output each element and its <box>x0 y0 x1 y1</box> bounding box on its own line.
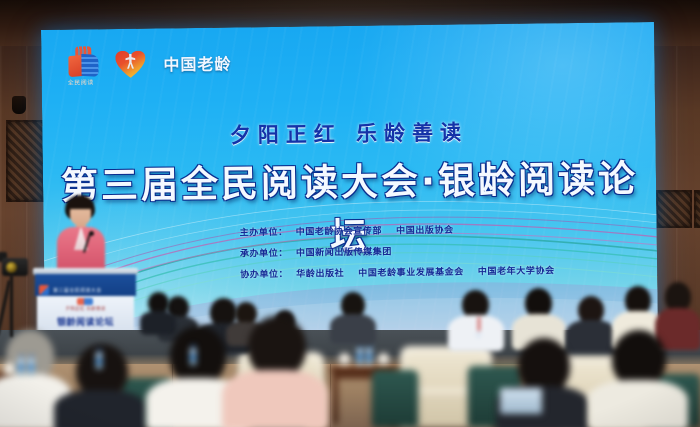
name-badge <box>476 331 481 338</box>
organizer-line-organizer: 承办单位：中国新闻出版传媒集团 <box>240 242 569 259</box>
lectern-panel-logo <box>77 298 93 305</box>
tea-cup-right <box>378 356 389 365</box>
zhongguo-laoling-heart-logo <box>113 47 149 81</box>
organizer-organizer-1: 中国新闻出版传媒集团 <box>296 247 392 258</box>
shoulders <box>54 390 146 427</box>
shoulders-pink <box>222 370 328 427</box>
water-bottle-far-left-1 <box>18 358 24 375</box>
book-logo-caption: 全民阅读 <box>68 77 94 86</box>
audience-front-6 <box>588 330 688 427</box>
organizer-label-coorganizer: 协办单位： <box>240 270 288 281</box>
wall-panel-right-2 <box>694 190 700 228</box>
organizer-label-organizer: 承办单位： <box>240 249 288 260</box>
organizer-host-2: 中国出版协会 <box>396 226 454 237</box>
tea-cup-far-left <box>4 366 15 375</box>
shoulders <box>330 314 376 344</box>
organizer-line-coorganizer: 协办单位：华龄出版社中国老龄事业发展基金会中国老年大学协会 <box>240 263 569 280</box>
organizer-co-2: 中国老龄事业发展基金会 <box>358 267 464 278</box>
side-table-leg-left <box>333 379 338 424</box>
shoulders <box>588 380 688 427</box>
book-logo-right-page <box>81 54 98 77</box>
audience-member-midrow-2 <box>330 292 376 342</box>
water-bottle-table-1 <box>357 348 363 365</box>
organizer-label-host: 主办单位： <box>240 228 288 239</box>
wall-sconce-left <box>12 96 26 114</box>
microphone-icon <box>89 231 94 236</box>
tea-cup-left <box>339 356 350 365</box>
laptop-screen <box>500 388 542 414</box>
speaker-at-podium <box>52 195 110 275</box>
organizer-co-3: 中国老年大学协会 <box>478 266 555 277</box>
head <box>170 326 226 386</box>
organizer-host-1: 中国老龄协会宣传部 <box>296 227 383 238</box>
conference-photo: 全民阅读 中国老龄 夕阳正红 乐龄善读 第三届全民阅读大会·银龄阅读论坛 主办单… <box>0 0 700 427</box>
lectern-panel-title: 银龄阅读论坛 <box>37 315 134 328</box>
speaker-fringe <box>66 198 94 209</box>
camera-lens-icon <box>6 262 17 273</box>
wall-panel-right <box>656 190 692 228</box>
organizer-block: 主办单位：中国老龄协会宣传部中国出版协会 承办单位：中国新闻出版传媒集团 协办单… <box>240 221 569 288</box>
water-bottle-mid <box>190 348 196 365</box>
tripod-leg-1 <box>10 275 13 337</box>
head <box>248 316 306 378</box>
chair-back-3 <box>372 370 418 427</box>
lectern-panel-subtitle: 夕阳正红 乐龄善读 <box>37 306 134 312</box>
organizer-co-1: 华龄出版社 <box>296 269 344 280</box>
lectern-banner: 第三届全民阅读大会 <box>35 274 136 296</box>
water-bottle-left <box>96 352 102 369</box>
water-bottle-far-left-2 <box>28 358 34 375</box>
water-bottle-table-2 <box>366 348 372 365</box>
lectern-banner-text: 第三届全民阅读大会 <box>53 287 102 294</box>
lectern-banner-logo <box>39 285 49 295</box>
quanmin-yuedu-book-logo: 全民阅读 <box>65 47 99 81</box>
zhongguo-laoling-logo-text: 中国老龄 <box>163 51 231 76</box>
screen-logo-row: 全民阅读 中国老龄 <box>65 46 231 82</box>
audience-front-4 <box>222 316 328 427</box>
wall-panel-left <box>6 120 44 202</box>
